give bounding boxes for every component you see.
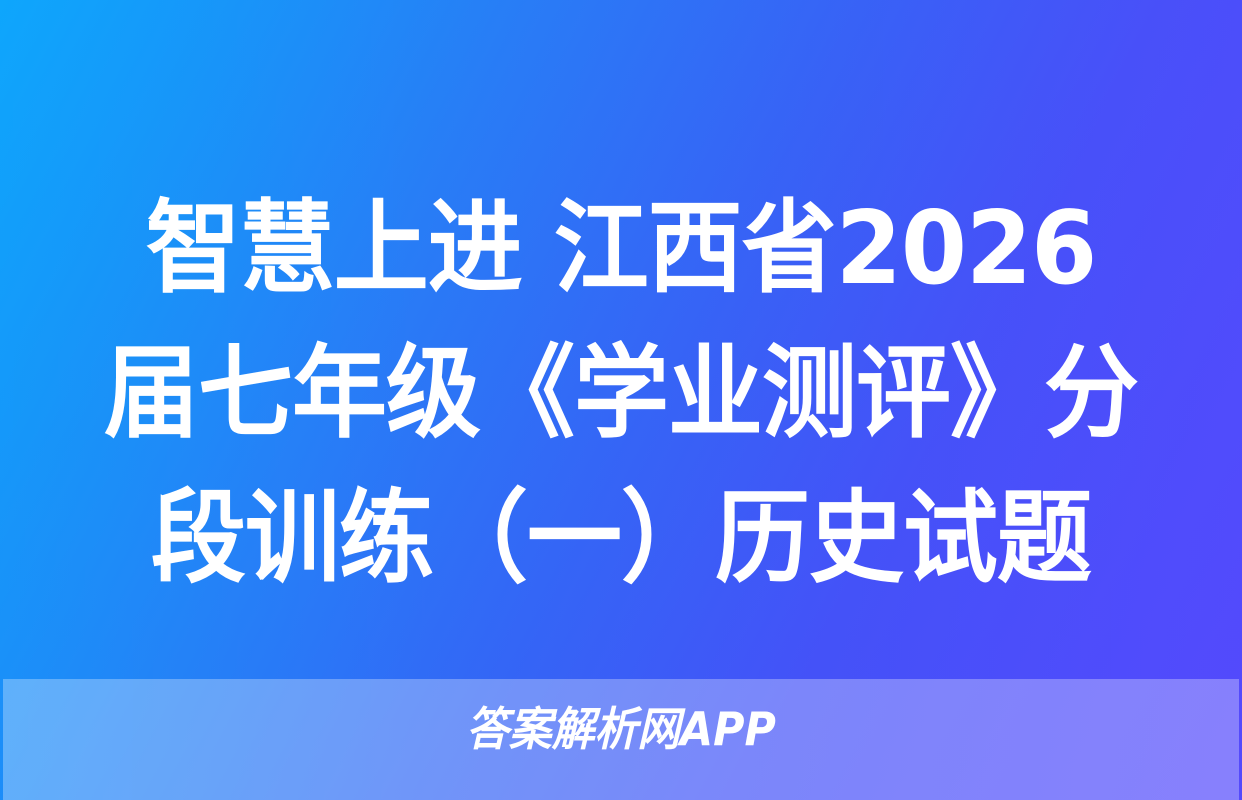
exam-cover-banner: 智慧上进 江西省2026 届七年级《学业测评》分 段训练（一）历史试题 答案解析… — [0, 0, 1242, 800]
banner-title-line-3: 段训练（一）历史试题 — [79, 466, 1164, 611]
banner-title-line-1: 智慧上进 江西省2026 — [79, 176, 1164, 321]
banner-title-block: 智慧上进 江西省2026 届七年级《学业测评》分 段训练（一）历史试题 — [0, 176, 1242, 611]
footer-overlay-band: 答案解析网APP — [3, 679, 1239, 800]
banner-title-line-2: 届七年级《学业测评》分 — [79, 321, 1164, 466]
app-watermark-label: 答案解析网APP — [46, 701, 1195, 757]
